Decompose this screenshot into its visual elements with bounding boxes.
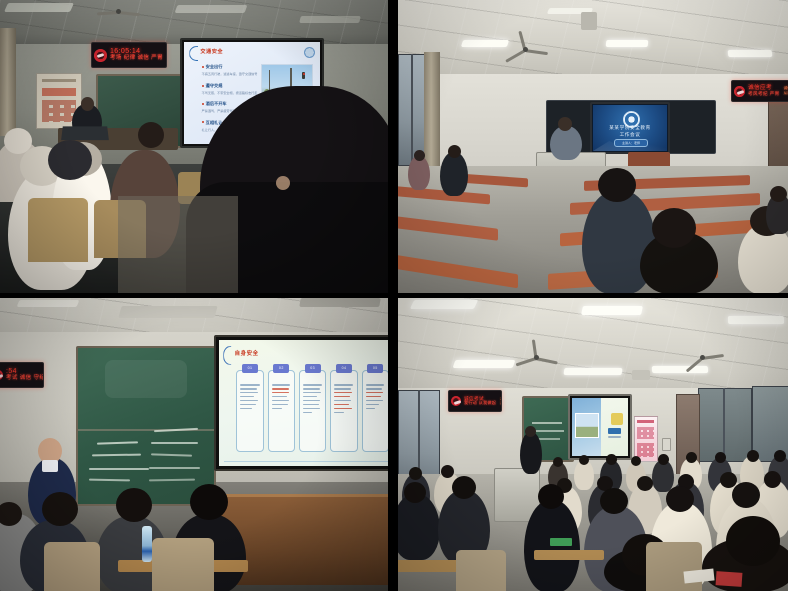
chalkboard: [76, 346, 216, 506]
ceiling-fan: [680, 352, 724, 362]
slide-line-1: 某某学院安全教育: [593, 125, 667, 131]
student-silhouette: [408, 156, 430, 190]
led-marquee-sign: 诚信考试 我行动 从我做起 2024.12.23 星期一: [448, 390, 502, 412]
student-head: [538, 484, 564, 509]
ceiling-light: [581, 306, 643, 315]
ceiling-light: [410, 300, 478, 309]
chalk-writing: [532, 422, 562, 424]
collage-panel-top-right: 诚信应考 考风考纪 严胃 诚信考试 从我做起 某某学院安全教育 工作会议 主讲人…: [398, 0, 788, 293]
slide-footer-rule: [224, 461, 388, 462]
slide-bullet: 安全出行 不搞五周行驶，遮遮车速，遵守交通信号: [202, 64, 258, 76]
chalkboard-smudge: [105, 360, 187, 397]
led-sign-logo: [0, 370, 3, 380]
student-head: [441, 465, 454, 478]
student-head: [116, 488, 152, 522]
instructor-collar: [42, 460, 58, 472]
chalk-writing: [92, 454, 141, 457]
chalk-writing: [151, 453, 192, 456]
student-head: [190, 484, 228, 520]
led-sign-logo: [734, 86, 745, 97]
slide-title: 交通安全: [200, 48, 223, 55]
student-head: [686, 452, 697, 463]
student-head: [42, 492, 78, 526]
projector: [581, 12, 597, 30]
window-curtain: [424, 52, 440, 168]
speaker-head: [558, 117, 572, 131]
slide-logo-icon: [304, 47, 315, 58]
ceiling-light: [299, 298, 381, 307]
student-silhouette: [398, 494, 440, 560]
ceiling-fan: [514, 352, 558, 362]
ceiling-fan: [502, 44, 548, 54]
student-head: [666, 486, 694, 512]
student-head: [774, 450, 786, 462]
card-number: 02: [273, 364, 289, 373]
projector: [632, 370, 650, 380]
student-silhouette: [48, 140, 92, 180]
flat-panel-display: 某某学院安全教育 工作会议 主讲人：老师: [590, 102, 670, 154]
chalk-writing: [151, 442, 197, 444]
speaker: [550, 126, 582, 160]
student-head: [747, 450, 759, 462]
slide-presenter-tag: 主讲人：老师: [614, 139, 648, 147]
card-body-lines: [303, 384, 322, 441]
led-sign-line2: 考风考纪 严胃: [748, 92, 780, 97]
ceiling-light: [652, 366, 708, 373]
student-head: [715, 452, 726, 463]
lecturer-head: [525, 426, 536, 437]
chalk-writing: [149, 479, 195, 482]
slide-card: 05: [362, 370, 388, 451]
ceiling-light: [4, 3, 74, 12]
student-desk: [534, 550, 604, 560]
student-head: [404, 482, 426, 503]
ceiling-light: [175, 5, 248, 13]
chalk-writing: [97, 441, 138, 444]
bullet-heading: 安全出行: [202, 64, 258, 70]
student-head: [600, 488, 628, 514]
student-head: [770, 186, 787, 202]
student-head: [409, 467, 422, 480]
laptop: [61, 126, 109, 140]
bullet-text: 不驾无照，不带安全帽，按道路标志行走: [202, 90, 258, 95]
card-number: 05: [367, 364, 383, 373]
lecturer: [520, 432, 542, 474]
student-silhouette: [440, 152, 468, 196]
card-body-lines: [240, 384, 259, 441]
student-head: [414, 150, 425, 161]
card-body-lines: [272, 384, 291, 441]
led-sign-logo: [451, 396, 461, 406]
ceiling-light: [17, 300, 80, 307]
window: [698, 388, 752, 462]
presenter-head: [81, 97, 94, 111]
slide-bullet: 遵守交规 不驾无照，不带安全帽，按道路标志行走: [202, 83, 258, 95]
student-head: [652, 208, 696, 248]
chalk-writing: [149, 467, 201, 469]
student-head: [606, 454, 617, 465]
chalk-writing: [89, 479, 130, 482]
projection-screen: 自身安全 01 02: [214, 335, 388, 471]
student-head: [452, 476, 476, 499]
slide-card: 02: [268, 370, 295, 451]
slide-card: 01: [236, 370, 263, 451]
led-sign-side-bottom: 星期一: [500, 401, 502, 406]
student-head: [726, 516, 780, 566]
window-mullion: [411, 54, 413, 164]
collage-panel-top-left: 16:05:14 考场 纪律 诚信 严胃 诚信考试 先学 交通安全 安全出行: [0, 0, 388, 293]
photo-collage: 16:05:14 考场 纪律 诚信 严胃 诚信考试 先学 交通安全 安全出行: [0, 0, 788, 591]
led-marquee-sign: 16:05:14 考场 纪律 诚信 严胃 诚信考试 先学: [91, 42, 167, 68]
collage-panel-bottom-left: :54 考试 诚信 守纪 2024年12月23 星期一: [0, 298, 388, 591]
seat-back: [646, 542, 702, 591]
ceiling-light: [728, 316, 784, 324]
slide-caption-bar: [608, 428, 621, 434]
floor: [118, 196, 238, 293]
student-head: [658, 454, 669, 465]
slide-left-pane: [572, 398, 601, 456]
collage-panel-bottom-right: 诚信考试 我行动 从我做起 2024.12.23 星期一: [398, 298, 788, 591]
wall-poster: [634, 416, 658, 462]
light-switch[interactable]: [662, 438, 671, 451]
seat-back: [28, 198, 88, 262]
water-bottle: [142, 526, 152, 562]
window-curtain: [0, 28, 16, 136]
slide-personal-safety: 自身安全 01 02: [219, 340, 388, 466]
student-head: [637, 476, 653, 491]
led-marquee-sign: :54 考试 诚信 守纪 2024年12月23 星期一: [0, 362, 44, 388]
student-head: [764, 471, 781, 488]
bullet-heading: 遵守交规: [202, 83, 258, 89]
bullet-text: 不搞五周行驶，遮遮车速，遵守交通信号: [202, 71, 258, 76]
classroom-scene-bottom-right: 诚信考试 我行动 从我做起 2024.12.23 星期一: [398, 298, 788, 591]
student-head: [598, 168, 636, 202]
ceiling-light: [453, 360, 516, 368]
ceiling-light: [564, 368, 623, 375]
foreground-hand: [276, 176, 290, 190]
led-sign-line2: 考试 诚信 守纪: [6, 376, 44, 382]
slide-photo: [575, 413, 599, 438]
ceiling-light: [606, 40, 649, 47]
slide-title-meeting: 某某学院安全教育 工作会议 主讲人：老师: [593, 105, 667, 151]
led-marquee-sign: 诚信应考 考风考纪 严胃 诚信考试 从我做起: [731, 80, 788, 102]
card-number: 03: [305, 364, 321, 373]
led-sign-logo: [94, 49, 107, 62]
led-sign-side-bottom: 从我做起: [784, 91, 788, 96]
slide-line-2: 工作会议: [593, 132, 667, 138]
seat-back: [152, 538, 214, 591]
slide-title: 自身安全: [235, 349, 259, 357]
classroom-scene-top-left: 16:05:14 考场 纪律 诚信 严胃 诚信考试 先学 交通安全 安全出行: [0, 0, 388, 293]
classroom-scene-bottom-left: :54 考试 诚信 守纪 2024年12月23 星期一: [0, 298, 388, 591]
card-body-lines: [334, 384, 353, 441]
projection-screen: [568, 394, 632, 460]
led-sign-line2: 我行动 从我做起: [464, 401, 496, 405]
ceiling-light: [118, 306, 217, 318]
seat-back: [44, 542, 100, 591]
student-head: [553, 457, 563, 467]
chalk-writing: [89, 468, 149, 470]
notebook: [550, 538, 572, 546]
slide-card: 04: [330, 370, 357, 451]
slide-icon: [611, 413, 623, 425]
student-head: [732, 482, 760, 508]
student-head: [448, 145, 461, 158]
card-body-lines: [366, 384, 385, 441]
led-sign-line2: 考场 纪律 诚信 严胃: [110, 56, 163, 62]
student-head: [579, 455, 589, 465]
card-number: 01: [242, 364, 258, 373]
card-number: 04: [336, 364, 352, 373]
book: [716, 571, 743, 587]
slide-two-pane: [572, 398, 628, 456]
slide-subcaption: [608, 436, 621, 438]
classroom-scene-top-right: 诚信应考 考风考纪 严胃 诚信考试 从我做起 某某学院安全教育 工作会议 主讲人…: [398, 0, 788, 293]
ceiling-light: [299, 16, 361, 23]
window-mullion: [723, 388, 725, 460]
student-head: [138, 122, 164, 148]
ceiling-fan: [96, 6, 140, 16]
slide-right-pane: [601, 398, 628, 456]
student-head: [631, 456, 641, 466]
seat-back: [456, 550, 506, 591]
slide-card: 03: [299, 370, 326, 451]
ceiling-light: [728, 50, 773, 57]
